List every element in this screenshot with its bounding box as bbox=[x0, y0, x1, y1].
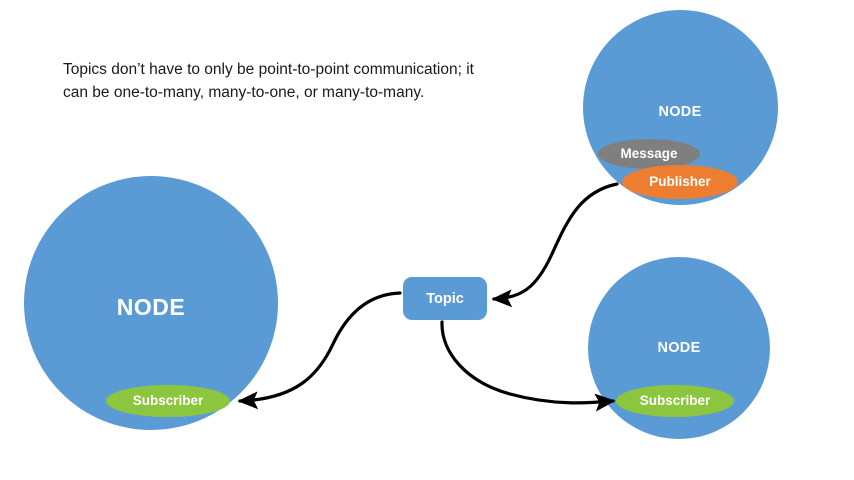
subscriber-left-ellipse[interactable] bbox=[106, 385, 230, 417]
connection-publisher-to-topic bbox=[494, 184, 617, 299]
subscriber-bottom-right-ellipse[interactable] bbox=[616, 385, 734, 417]
node-top-right[interactable] bbox=[583, 10, 778, 205]
node-left[interactable] bbox=[24, 176, 278, 430]
diagram-canvas: Topics don’t have to only be point-to-po… bbox=[0, 0, 854, 480]
node-bottom-right[interactable] bbox=[588, 257, 770, 439]
message-ellipse[interactable] bbox=[598, 139, 700, 169]
publisher-ellipse[interactable] bbox=[622, 165, 738, 199]
caption-text: Topics don’t have to only be point-to-po… bbox=[63, 58, 483, 105]
topic-box-rect bbox=[403, 277, 487, 320]
connection-topic-to-subscriber-bottom-right bbox=[442, 322, 613, 403]
topic-box[interactable] bbox=[403, 277, 487, 320]
